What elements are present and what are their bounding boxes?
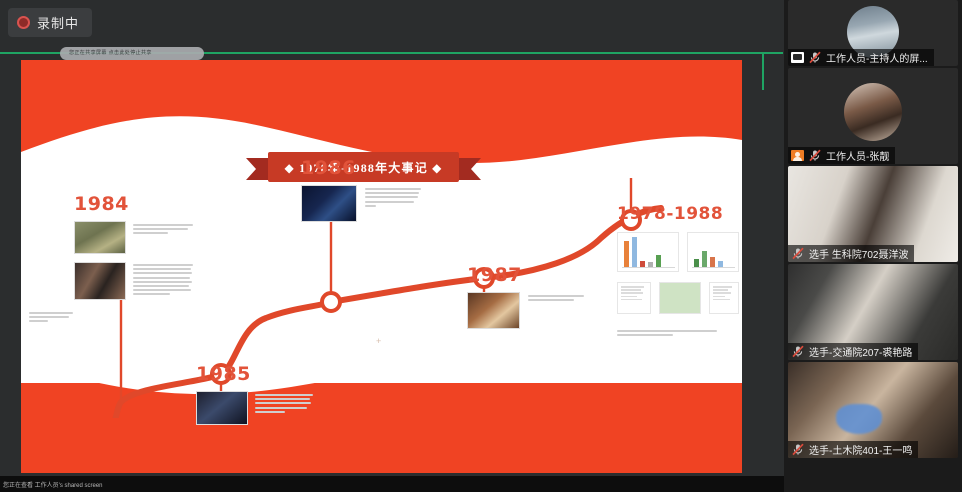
event-1984: 1984 — [74, 193, 193, 300]
screen-share-toolbar-hint: 您正在共享屏幕 点击此处停止共享 — [60, 47, 204, 60]
event-1987: 1987 — [467, 264, 584, 329]
participant-name-1: 工作人员-张靓 — [826, 148, 889, 163]
data-table-thumb — [617, 282, 651, 314]
participant-tile-0[interactable]: 工作人员-主持人的屏... — [788, 0, 958, 66]
mic-muted-icon — [791, 247, 805, 260]
participant-name-3: 选手-交通院207-裘艳路 — [809, 344, 912, 359]
participant-label-4: 选手-土木院401-王一鸣 — [788, 441, 918, 458]
participant-label-3: 选手-交通院207-裘艳路 — [788, 343, 918, 360]
screen-share-border-right — [762, 52, 764, 90]
event-1986: 1986 — [301, 157, 421, 222]
bar-chart-thumb-2 — [687, 232, 739, 272]
mic-muted-icon — [808, 51, 822, 64]
svg-text:+: + — [376, 336, 381, 346]
event-1978-1988-year: 1978-1988 — [617, 204, 732, 224]
slide-left-note-lines — [29, 312, 73, 322]
recording-label: 录制中 — [37, 13, 79, 32]
event-1984-year: 1984 — [74, 193, 193, 215]
screen-share-icon — [791, 52, 804, 63]
event-1987-year: 1987 — [467, 264, 584, 286]
event-1985: 1985 — [196, 363, 313, 425]
participant-label-2: 选手 生科院702聂洋波 — [788, 245, 914, 262]
data-table-thumb-2 — [709, 282, 739, 314]
record-dot-icon — [17, 16, 30, 29]
event-1985-blurb-1 — [255, 391, 313, 425]
event-1978-1988: 1978-1988 — [617, 204, 732, 338]
avatar — [844, 83, 902, 141]
screen-share-toolbar[interactable]: 您正在共享屏幕 点击此处停止共享 — [60, 47, 204, 60]
event-1984-photo-1 — [74, 221, 126, 254]
mic-muted-icon — [808, 149, 822, 162]
participant-tile-4[interactable]: 选手-土木院401-王一鸣 — [788, 362, 958, 458]
participant-label-0: 工作人员-主持人的屏... — [788, 49, 934, 66]
event-1986-photo-1 — [301, 185, 357, 222]
event-1987-photo-1 — [467, 292, 520, 329]
event-1978-1988-blurb — [617, 330, 717, 336]
bar-chart-thumb — [617, 232, 679, 272]
slide-left-note — [29, 312, 73, 325]
zoom-meeting-window: 您正在共享屏幕 点击此处停止共享 录制中 ◆ 1978年- — [0, 0, 962, 492]
event-1984-blurb-1 — [133, 221, 193, 254]
share-status-text: 您正在查看 工作人员's shared screen — [0, 480, 103, 489]
participant-tile-1[interactable]: 工作人员-张靓 — [788, 68, 958, 164]
avatar-icon — [791, 150, 804, 161]
mic-muted-icon — [791, 443, 805, 456]
event-1986-year: 1986 — [301, 157, 421, 179]
green-table-thumb — [659, 282, 701, 314]
participant-name-2: 选手 生科院702聂洋波 — [809, 246, 908, 261]
participant-name-0: 工作人员-主持人的屏... — [826, 50, 928, 65]
recording-indicator[interactable]: 录制中 — [8, 8, 92, 37]
event-1984-blurb-2 — [133, 262, 193, 300]
event-1984-photo-2 — [74, 262, 126, 300]
event-1985-year: 1985 — [196, 363, 313, 385]
event-1987-blurb-1 — [528, 292, 584, 329]
event-1986-blurb-1 — [365, 185, 421, 222]
event-1985-photo-1 — [196, 391, 248, 425]
mic-muted-icon — [791, 345, 805, 358]
participant-tile-2[interactable]: 选手 生科院702聂洋波 — [788, 166, 958, 262]
participant-label-1: 工作人员-张靓 — [788, 147, 895, 164]
shared-screen-stage: 您正在共享屏幕 点击此处停止共享 录制中 ◆ 1978年- — [0, 0, 784, 492]
presentation-slide: ◆ 1978年-1988年大事记 ◆ + — [21, 60, 742, 473]
share-status-bar: 您正在查看 工作人员's shared screen — [0, 476, 784, 492]
participant-tile-3[interactable]: 选手-交通院207-裘艳路 — [788, 264, 958, 360]
participant-name-4: 选手-土木院401-王一鸣 — [809, 442, 912, 457]
participant-filmstrip[interactable]: 工作人员-主持人的屏... 工作人员-张靓 — [784, 0, 962, 492]
